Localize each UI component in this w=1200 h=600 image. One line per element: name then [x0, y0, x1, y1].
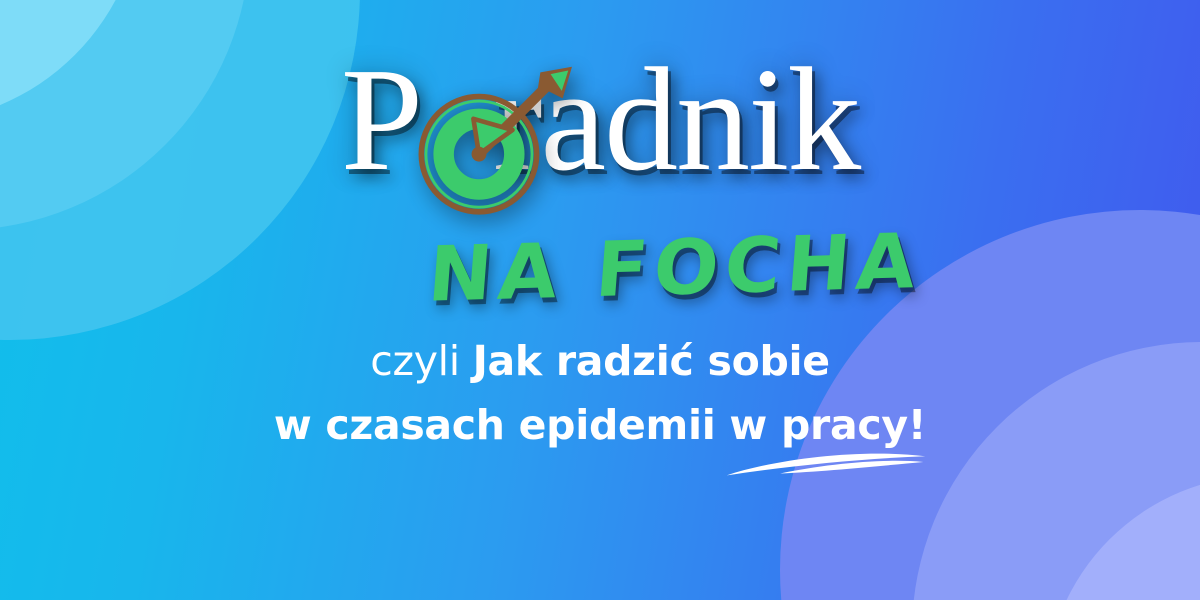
tagline-line-1-light: czyli — [370, 337, 472, 385]
tagline-block: czyli Jak radzić sobie w czasach epidemi… — [0, 330, 1200, 457]
subtitle-block: NA FOCHA — [0, 232, 1200, 308]
tagline-line-1: czyli Jak radzić sobie — [0, 330, 1200, 394]
title-block: Poradnik NA FOCHA — [0, 46, 1200, 194]
promo-banner: Poradnik NA FOCHA — [0, 0, 1200, 600]
tagline-line-2: w czasach epidemii w pracy! — [274, 394, 926, 458]
decor-circle-bottom-right-inner — [1045, 475, 1200, 600]
tagline-line-1-bold: Jak radzić sobie — [473, 337, 830, 385]
page-title: Poradnik — [335, 46, 865, 194]
tagline-line-2-wrap: w czasach epidemii w pracy! — [0, 394, 1200, 458]
tagline-line-2-text: w czasach epidemii w pracy! — [274, 401, 926, 449]
page-subtitle: NA FOCHA — [275, 223, 924, 317]
target-with-arrow-icon — [399, 50, 585, 236]
